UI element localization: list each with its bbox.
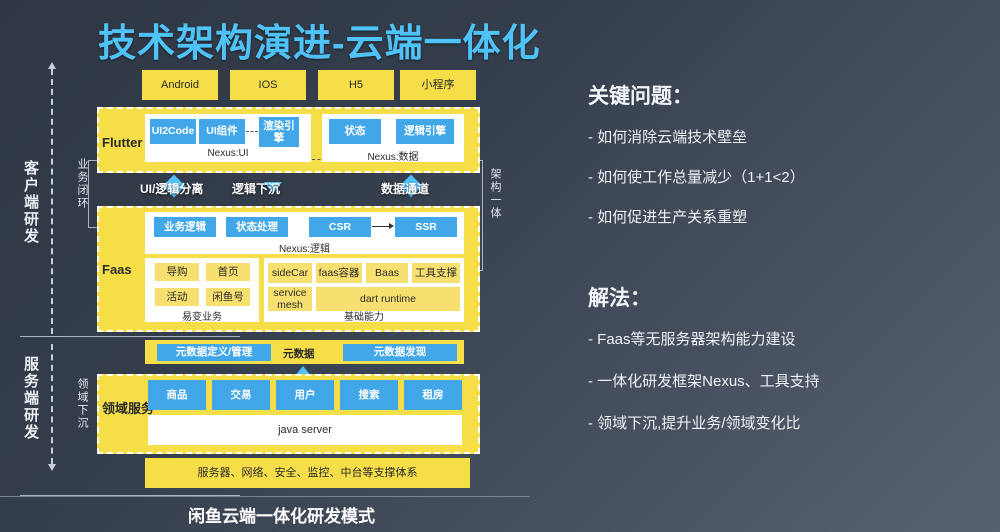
solutions-heading: 解法： xyxy=(588,282,651,312)
nexus-ui-item-label: 渲染引擎 xyxy=(260,120,298,144)
nexus-logic-caption: Nexus:逻辑 xyxy=(145,240,464,255)
client-box-h5[interactable]: H5 xyxy=(318,70,394,100)
base-capability-item-label: sideCar xyxy=(272,267,308,279)
slide-caption: 闲鱼云端一体化研发模式 xyxy=(188,502,375,527)
client-axis-line xyxy=(51,69,53,334)
variable-business-item-label: 首页 xyxy=(218,266,239,278)
domain-item-product[interactable]: 商品 xyxy=(148,380,206,410)
client-box-label: Android xyxy=(161,79,199,92)
nexus-logic-item-label: CSR xyxy=(329,221,351,233)
client-box-android[interactable]: Android xyxy=(142,70,218,100)
variable-business-item-activity[interactable]: 活动 xyxy=(155,288,199,306)
domain-label: 领域服务 xyxy=(102,398,154,417)
variable-business-item-guide[interactable]: 导购 xyxy=(155,263,199,281)
nexus-logic-item-label: 业务逻辑 xyxy=(164,221,206,233)
client-axis-arrow-icon xyxy=(48,62,56,69)
client-box-label: 小程序 xyxy=(422,79,455,92)
faas-label: Faas xyxy=(102,262,132,277)
domain-item-user[interactable]: 用户 xyxy=(276,380,334,410)
foundation-label: 服务器、网络、安全、监控、中台等支撑体系 xyxy=(198,467,418,480)
rail-label-arch-unified: 架构一体 xyxy=(487,168,503,220)
domain-item-trade[interactable]: 交易 xyxy=(212,380,270,410)
nexus-ui-item-label: UI组件 xyxy=(206,125,238,137)
base-capability-item-label: 工具支撑 xyxy=(415,267,457,279)
questions-heading: 关键问题： xyxy=(588,80,693,110)
page-title: 技术架构演进-云端一体化 xyxy=(98,12,541,67)
metadata-center-label: 元数据 xyxy=(283,346,315,361)
nexus-data-item-state[interactable]: 状态 xyxy=(329,119,381,144)
rail-label-domain-sink: 领域下沉 xyxy=(74,378,90,430)
variable-business-item-label: 活动 xyxy=(167,291,188,303)
metadata-discovery[interactable]: 元数据发现 xyxy=(343,344,457,361)
csr-ssr-connector-line xyxy=(372,226,390,227)
nexus-ui-caption: Nexus:UI xyxy=(145,148,311,159)
connector-label-data-channel: 数据通道 xyxy=(381,180,429,197)
base-capability-item-faas-container[interactable]: faas容器 xyxy=(316,263,362,283)
solution-item-3: - 领域下沉,提升业务/领域变化比 xyxy=(588,412,801,433)
nexus-logic-item-business-logic[interactable]: 业务逻辑 xyxy=(154,217,216,237)
client-box-label: IOS xyxy=(259,79,278,92)
nexus-data-item-label: 状态 xyxy=(345,125,366,137)
question-item-1: - 如何消除云端技术壁垒 xyxy=(588,126,747,147)
base-capability-item-label: faas容器 xyxy=(319,267,360,279)
domain-item-label: 交易 xyxy=(231,389,252,401)
nexus-ui-item-render-engine[interactable]: 渲染引擎 xyxy=(259,117,299,147)
base-capability-item-label: Baas xyxy=(375,267,399,279)
nexus-logic-item-ssr[interactable]: SSR xyxy=(395,217,457,237)
base-capability-item-baas[interactable]: Baas xyxy=(366,263,408,283)
nexus-logic-item-state-handling[interactable]: 状态处理 xyxy=(226,217,288,237)
solution-item-1: - Faas等无服务器架构能力建设 xyxy=(588,328,796,349)
domain-item-label: 商品 xyxy=(167,389,188,401)
base-capability-item-label: dart runtime xyxy=(360,293,416,305)
domain-item-search[interactable]: 搜索 xyxy=(340,380,398,410)
server-axis-line xyxy=(51,344,53,464)
nexus-logic-item-csr[interactable]: CSR xyxy=(309,217,371,237)
csr-ssr-arrow-icon xyxy=(389,223,394,229)
business-loop-bracket-line xyxy=(88,160,89,227)
variable-business-item-home[interactable]: 首页 xyxy=(206,263,250,281)
client-box-ios[interactable]: IOS xyxy=(230,70,306,100)
rail-divider-line xyxy=(20,336,240,337)
java-server-box[interactable]: java server xyxy=(148,415,462,445)
nexus-ui-item-label: UI2Code xyxy=(152,125,195,137)
arch-bracket-line xyxy=(482,160,483,270)
nexus-ui-item-ui-components[interactable]: UI组件 xyxy=(199,119,245,144)
nexus-logic-item-label: 状态处理 xyxy=(236,221,278,233)
connector-label-ui-logic-split: UI/逻辑分离 xyxy=(140,180,203,197)
java-server-label: java server xyxy=(278,424,332,436)
metadata-define-manage[interactable]: 元数据定义/管理 xyxy=(157,344,271,361)
nexus-data-item-logic-engine[interactable]: 逻辑引擎 xyxy=(396,119,454,144)
foundation-bar[interactable]: 服务器、网络、安全、监控、中台等支撑体系 xyxy=(145,458,470,488)
variable-business-item-idlefish-id[interactable]: 闲鱼号 xyxy=(206,288,250,306)
nexus-data-item-label: 逻辑引擎 xyxy=(404,125,446,137)
metadata-left-label: 元数据定义/管理 xyxy=(176,346,252,358)
domain-item-rental[interactable]: 租房 xyxy=(404,380,462,410)
solution-item-2: - 一体化研发框架Nexus、工具支持 xyxy=(588,370,820,391)
domain-item-label: 租房 xyxy=(423,389,444,401)
slide-canvas: 技术架构演进-云端一体化 客户端研发 服务端研发 业务闭环 领域下沉 架构一体 … xyxy=(0,0,1000,532)
nexus-data-caption: Nexus:数据 xyxy=(322,148,464,163)
connector-label-logic-sink: 逻辑下沉 xyxy=(232,180,280,197)
question-item-2: - 如何使工作总量减少（1+1<2） xyxy=(588,166,805,187)
caption-divider xyxy=(0,496,530,497)
base-capability-item-tooling[interactable]: 工具支撑 xyxy=(412,263,460,283)
variable-business-item-label: 闲鱼号 xyxy=(212,291,244,303)
rail-label-client: 客户端研发 xyxy=(20,160,41,245)
nexus-logic-item-label: SSR xyxy=(415,221,437,233)
client-box-label: H5 xyxy=(349,79,363,92)
domain-item-label: 用户 xyxy=(295,389,316,401)
domain-item-label: 搜索 xyxy=(359,389,380,401)
base-capability-caption: 基础能力 xyxy=(264,308,464,323)
client-box-miniprogram[interactable]: 小程序 xyxy=(400,70,476,100)
nexus-ui-connector xyxy=(246,131,258,132)
metadata-right-label: 元数据发现 xyxy=(374,346,427,358)
nexus-ui-item-ui2code[interactable]: UI2Code xyxy=(150,119,196,144)
flutter-label: Flutter xyxy=(102,135,142,150)
rail-label-server: 服务端研发 xyxy=(20,356,41,441)
question-item-3: - 如何促进生产关系重塑 xyxy=(588,206,747,227)
variable-business-item-label: 导购 xyxy=(167,266,188,278)
variable-business-caption: 易变业务 xyxy=(145,308,259,323)
base-capability-item-sidecar[interactable]: sideCar xyxy=(268,263,312,283)
server-axis-arrow-icon xyxy=(48,464,56,471)
